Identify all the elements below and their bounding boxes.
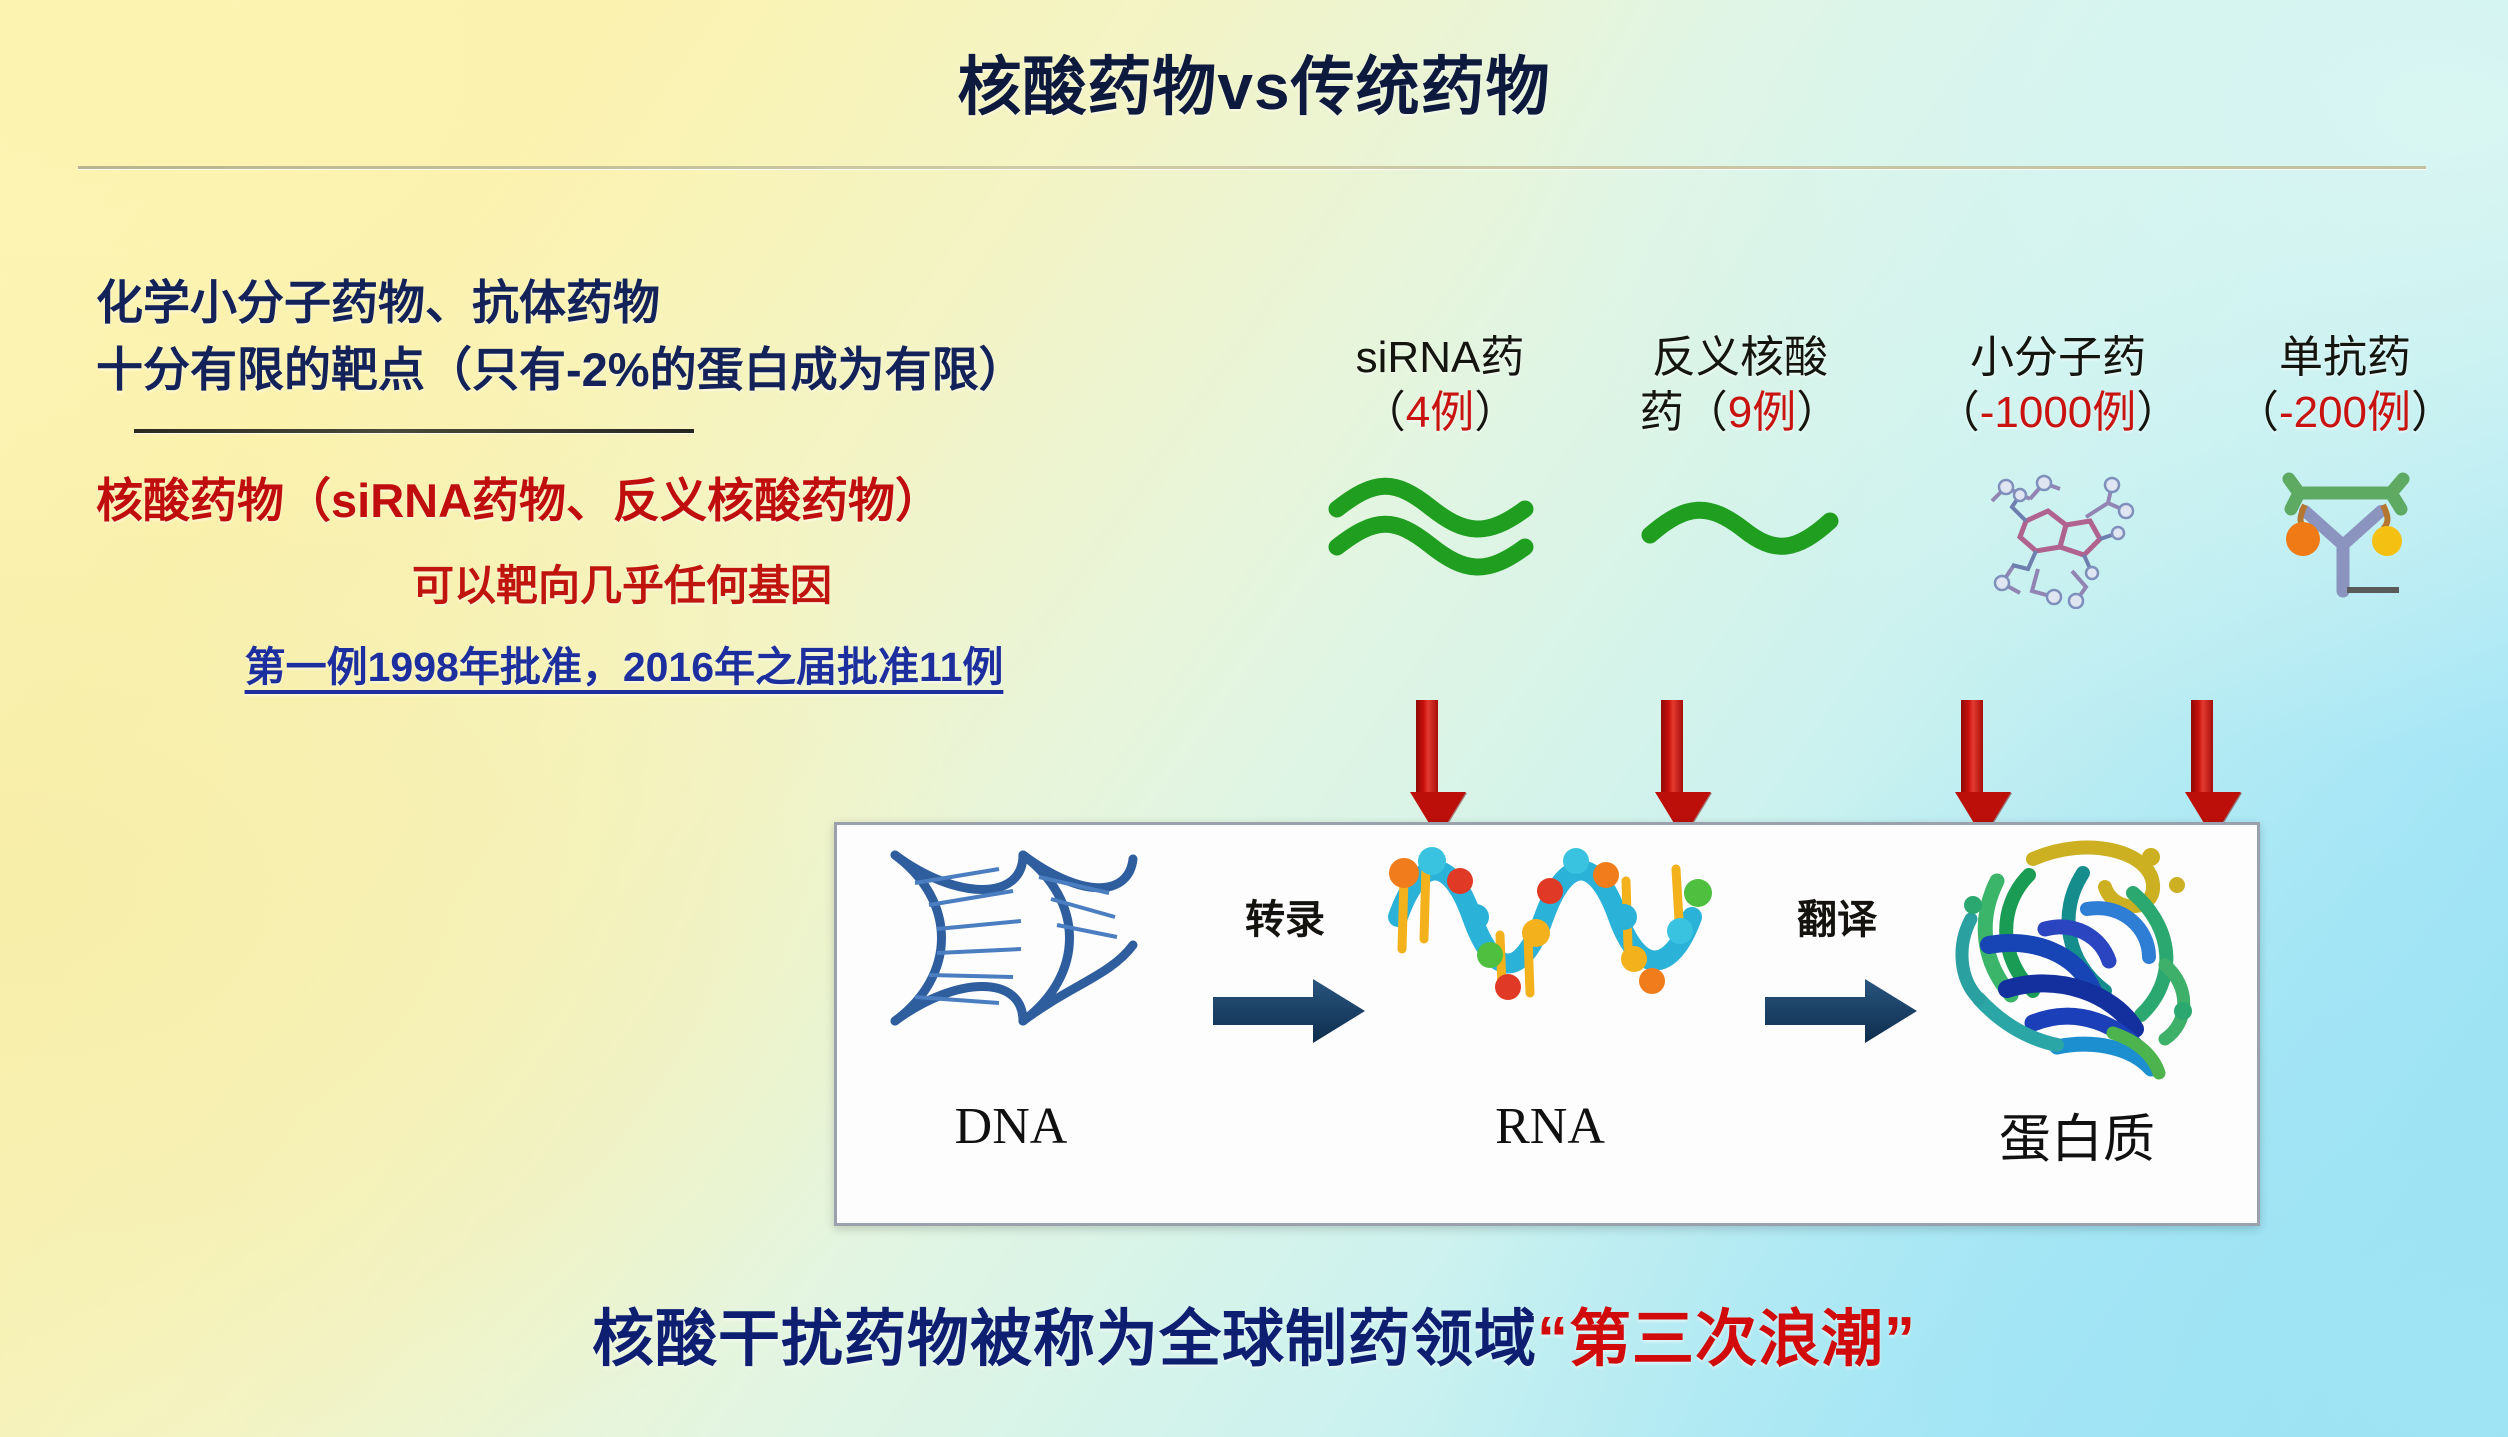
arrow-shaft: [1661, 700, 1683, 792]
drug-count-sirna: 4例: [1406, 388, 1474, 437]
drug-column-antisense: 反义核酸 药（9例）: [1590, 330, 1890, 609]
bottom-banner: 核酸干扰药物被称为全球制药领域“第三次浪潮”: [0, 1288, 2508, 1378]
drug-label-antibody: 单抗药 （-200例）: [2200, 330, 2490, 441]
drug-count-small-molecule: -1000例: [1980, 388, 2137, 437]
flow-label-dna: DNA: [861, 1097, 1161, 1156]
central-dogma-panel: DNA 转录: [834, 822, 2260, 1226]
nucleic-acid-subtext: 可以靶向几乎任何基因: [96, 552, 1156, 613]
flow-label-rna: RNA: [1375, 1097, 1725, 1156]
drug-column-antibody: 单抗药 （-200例）: [2200, 330, 2490, 609]
bottom-banner-prefix: 核酸干扰药物被称为全球制药领域: [592, 1305, 1537, 1374]
flow-step-arrow-transcription: [1209, 975, 1369, 1052]
section-divider: [134, 429, 694, 433]
drug-label-small-molecule: 小分子药 （-1000例）: [1908, 330, 2208, 441]
arrow-shaft: [1961, 700, 1983, 792]
sirna-double-strand-icon: [1300, 459, 1580, 609]
antibody-icon: [2200, 459, 2490, 609]
red-down-arrow-small-molecule: [1955, 700, 1989, 838]
flow-step-arrow-translation: [1761, 975, 1921, 1052]
drug-label-antisense: 反义核酸 药（9例）: [1590, 330, 1890, 441]
title-divider: [78, 166, 2426, 169]
rna-strand-icon: [1380, 825, 1720, 1045]
drug-column-sirna: siRNA药 （4例）: [1300, 330, 1580, 609]
central-dogma-flow: DNA 转录: [837, 825, 2257, 1223]
small-molecule-icon: [1908, 459, 2208, 609]
antisense-single-strand-icon: [1590, 459, 1890, 609]
bottom-banner-quote-close: ”: [1884, 1305, 1916, 1374]
flow-step-label-translation: 翻译: [1737, 887, 1937, 945]
flow-node-dna: [861, 825, 1161, 1050]
dna-double-helix-icon: [871, 825, 1151, 1045]
drug-count-antibody: -200例: [2279, 388, 2411, 437]
protein-ribbon-icon: [1937, 833, 2217, 1083]
bottom-banner-quote-open: “: [1537, 1305, 1569, 1374]
drug-comparison-row: siRNA药 （4例） 反义核酸 药（9例）: [1300, 330, 2420, 690]
traditional-drugs-line-1: 化学小分子药物、抗体药物: [96, 270, 1156, 337]
flow-label-protein: 蛋白质: [1927, 1097, 2227, 1172]
left-text-panel: 化学小分子药物、抗体药物 十分有限的靶点（只有-2%的蛋白成为有限） 核酸药物（…: [96, 270, 1156, 693]
arrow-shaft: [2191, 700, 2213, 792]
red-down-arrow-sirna: [1410, 700, 1444, 838]
traditional-drugs-line-2: 十分有限的靶点（只有-2%的蛋白成为有限）: [96, 337, 1156, 404]
red-down-arrow-antibody: [2185, 700, 2219, 838]
flow-node-protein: [1927, 833, 2227, 1088]
page-title: 核酸药物vs传统药物: [0, 36, 2508, 128]
slide-canvas: 核酸药物vs传统药物 化学小分子药物、抗体药物 十分有限的靶点（只有-2%的蛋白…: [0, 0, 2508, 1437]
drug-column-small-molecule: 小分子药 （-1000例）: [1908, 330, 2208, 609]
flow-step-label-transcription: 转录: [1185, 887, 1385, 945]
drug-label-sirna: siRNA药 （4例）: [1300, 330, 1580, 441]
flow-node-rna: [1375, 825, 1725, 1050]
arrow-shaft: [1416, 700, 1438, 792]
drug-count-antisense: 9例: [1728, 388, 1796, 437]
bottom-banner-highlight: 第三次浪潮: [1569, 1305, 1884, 1374]
nucleic-acid-heading: 核酸药物（siRNA药物、反义核酸药物）: [96, 467, 1156, 535]
nucleic-acid-approval-note: 第一例1998年批准，2016年之届批准11例: [96, 633, 1156, 693]
red-down-arrow-antisense: [1655, 700, 1689, 838]
